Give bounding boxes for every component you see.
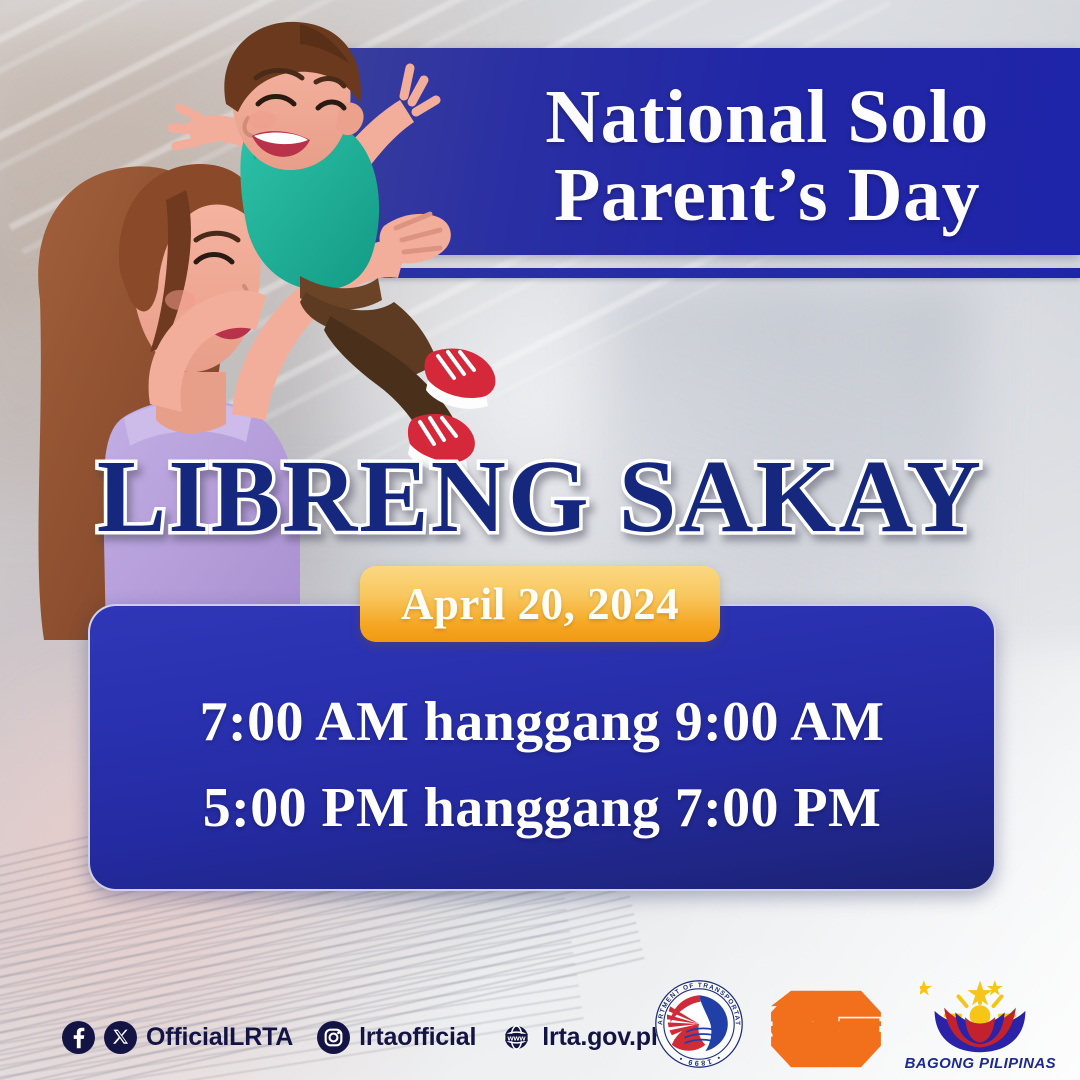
agency-logos: DEPARTMENT OF TRANSPORTATION • 1899 • xyxy=(651,971,1056,1072)
dotr-seal-icon: DEPARTMENT OF TRANSPORTATION • 1899 • xyxy=(651,976,747,1072)
poster-canvas: National Solo Parent’s Day xyxy=(0,0,1080,1080)
bagong-pilipinas-label: BAGONG PILIPINAS xyxy=(905,1055,1056,1072)
x-twitter-icon[interactable] xyxy=(104,1021,137,1054)
title-line-1: National Solo xyxy=(545,78,989,156)
schedule-panel: 7:00 AM hanggang 9:00 AM 5:00 PM hanggan… xyxy=(88,604,996,891)
schedule-line-evening: 5:00 PM hanggang 7:00 PM xyxy=(203,776,881,840)
social-handle-facebook-x[interactable]: OfficialLRTA xyxy=(146,1023,293,1052)
dotr-seal-logo: DEPARTMENT OF TRANSPORTATION • 1899 • xyxy=(651,976,747,1072)
instagram-icon[interactable] xyxy=(317,1021,350,1054)
social-handles: OfficialLRTA lrtaofficial xyxy=(62,1021,666,1054)
social-handle-website[interactable]: lrta.gov.ph xyxy=(542,1023,666,1052)
social-group-instagram[interactable]: lrtaofficial xyxy=(317,1021,476,1054)
lrta-logo xyxy=(765,986,887,1072)
bagong-pilipinas-icon xyxy=(920,971,1040,1057)
facebook-icon[interactable] xyxy=(62,1021,95,1054)
svg-text:www: www xyxy=(507,1033,527,1042)
footer: OfficialLRTA lrtaofficial xyxy=(0,950,1080,1080)
social-group-website[interactable]: www lrta.gov.ph xyxy=(500,1021,666,1054)
www-globe-icon[interactable]: www xyxy=(500,1021,533,1054)
bagong-pilipinas-logo: BAGONG PILIPINAS xyxy=(905,971,1056,1072)
lrta-logo-icon xyxy=(765,986,887,1072)
social-handle-instagram[interactable]: lrtaofficial xyxy=(359,1023,476,1052)
title-line-2: Parent’s Day xyxy=(554,156,980,234)
date-badge: April 20, 2024 xyxy=(360,566,720,642)
social-group-facebook-x[interactable]: OfficialLRTA xyxy=(62,1021,293,1054)
date-badge-label: April 20, 2024 xyxy=(401,578,679,630)
schedule-line-morning: 7:00 AM hanggang 9:00 AM xyxy=(200,690,885,754)
headline-libreng-sakay: LIBRENG SAKAY xyxy=(0,437,1080,556)
